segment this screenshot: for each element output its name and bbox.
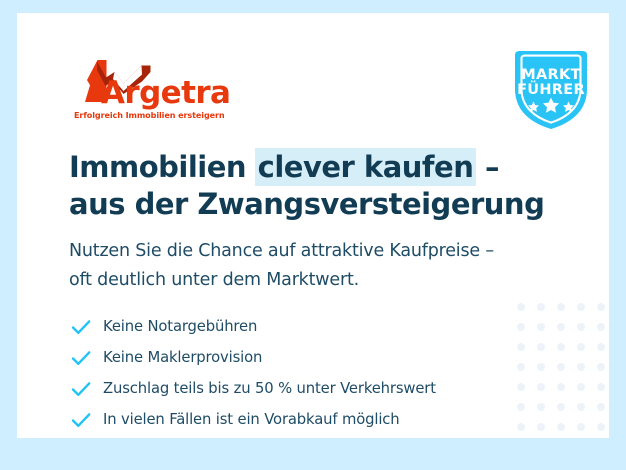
decorative-dot [557,423,565,431]
list-item: Keine Maklerprovision [70,342,510,373]
subheadline: Nutzen Sie die Chance auf attraktive Kau… [69,237,569,295]
headline-line-2: aus der Zwangsversteigerung [69,186,539,223]
decorative-dot [577,363,585,371]
list-item: In vielen Fällen ist ein Vorabkauf mögli… [70,404,510,435]
decorative-dot [537,423,545,431]
check-icon [70,347,92,369]
decorative-dot [537,363,545,371]
decorative-dot [517,323,525,331]
promo-banner: Argetra Erfolgreich Immobilien ersteiger… [0,0,626,470]
decorative-dot [597,323,605,331]
headline: Immobilien clever kaufen – aus der Zwang… [69,149,539,223]
check-icon [70,409,92,431]
decorative-dot [577,343,585,351]
banner-card: Argetra Erfolgreich Immobilien ersteiger… [17,13,609,438]
decorative-dot [577,423,585,431]
decorative-dot [517,383,525,391]
decorative-dot [577,383,585,391]
benefits-list: Keine Notargebühren Keine Maklerprovisio… [70,311,510,435]
decorative-dot [597,403,605,411]
decorative-dot [517,423,525,431]
subheadline-line-1: Nutzen Sie die Chance auf attraktive Kau… [69,237,569,266]
logo-wordmark: Argetra [101,78,230,109]
logo-tagline: Erfolgreich Immobilien ersteigern [74,110,225,120]
argetra-logo[interactable]: Argetra Erfolgreich Immobilien ersteiger… [73,58,223,120]
list-item-label: In vielen Fällen ist ein Vorabkauf mögli… [103,411,400,428]
decorative-dot [597,363,605,371]
decorative-dot [577,303,585,311]
decorative-dot [537,303,545,311]
decorative-dot [537,403,545,411]
dot-grid-decoration [517,303,609,438]
decorative-dot [597,343,605,351]
decorative-dot [597,383,605,391]
list-item: Keine Notargebühren [70,311,510,342]
badge-line-2: FÜHRER [505,82,597,98]
subheadline-line-2: oft deutlich unter dem Marktwert. [69,266,569,295]
decorative-dot [517,363,525,371]
decorative-dot [597,423,605,431]
decorative-dot [557,363,565,371]
decorative-dot [557,323,565,331]
check-icon [70,378,92,400]
decorative-dot [557,303,565,311]
list-item-label: Keine Notargebühren [103,318,257,335]
decorative-dot [537,323,545,331]
decorative-dot [517,303,525,311]
headline-highlight: clever kaufen [255,148,477,186]
decorative-dot [557,343,565,351]
decorative-dot [577,323,585,331]
decorative-dot [557,403,565,411]
decorative-dot [537,343,545,351]
headline-pre: Immobilien [69,150,256,184]
list-item-label: Keine Maklerprovision [103,349,262,366]
decorative-dot [517,343,525,351]
headline-post: – [475,150,499,184]
decorative-dot [517,403,525,411]
badge-line-1: MARKT [505,67,597,83]
decorative-dot [557,383,565,391]
headline-line-1: Immobilien clever kaufen – [69,149,539,186]
decorative-dot [577,403,585,411]
decorative-dot [597,303,605,311]
check-icon [70,316,92,338]
decorative-dot [537,383,545,391]
list-item: Zuschlag teils bis zu 50 % unter Verkehr… [70,373,510,404]
market-leader-badge: MARKT FÜHRER [505,49,597,131]
list-item-label: Zuschlag teils bis zu 50 % unter Verkehr… [103,380,436,397]
